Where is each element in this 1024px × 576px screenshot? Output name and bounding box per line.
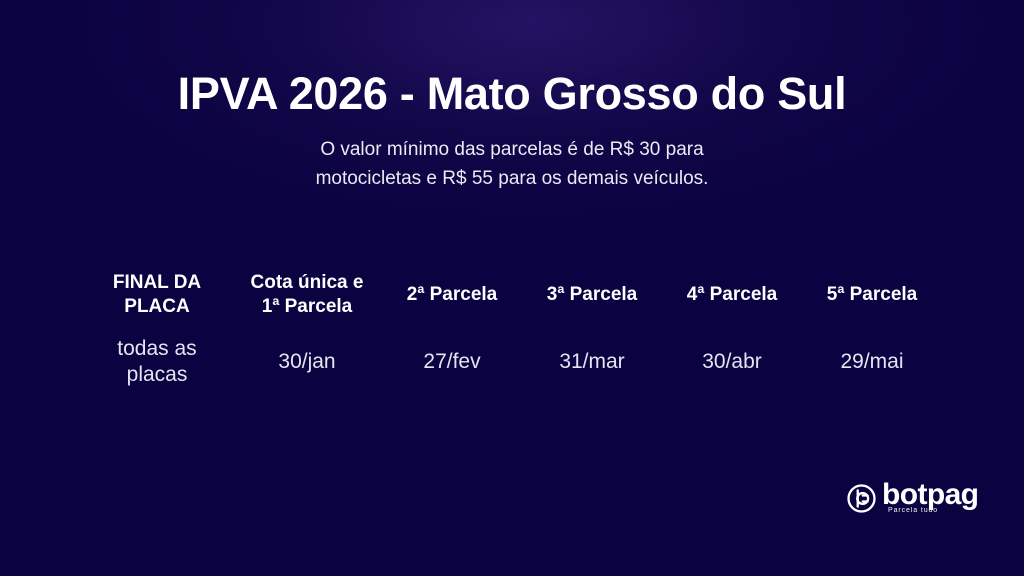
column-header-line-1: FINAL DA (82, 271, 232, 295)
cell-line-2: placas (82, 362, 232, 388)
page-title: IPVA 2026 - Mato Grosso do Sul (0, 69, 1024, 119)
column-header-parcela-5: 5ª Parcela (802, 264, 942, 326)
slide-content: IPVA 2026 - Mato Grosso do Sul O valor m… (0, 0, 1024, 576)
cell-cota-unica: 30/jan (232, 326, 382, 398)
cell-parcela-3: 31/mar (522, 326, 662, 398)
cell-line-1: todas as (82, 336, 232, 362)
column-header-parcela-4: 4ª Parcela (662, 264, 802, 326)
column-header-line-2: PLACA (82, 295, 232, 319)
botpag-wordmark: botpag (882, 480, 978, 510)
payment-schedule-table: FINAL DA PLACA Cota única e 1ª Parcela 2… (82, 264, 942, 398)
column-header-parcela-2: 2ª Parcela (382, 264, 522, 326)
column-header-line-2: 1ª Parcela (232, 295, 382, 319)
subtitle-line-1: O valor mínimo das parcelas é de R$ 30 p… (0, 136, 1024, 165)
column-header-line-1: Cota única e (232, 271, 382, 295)
column-header-parcela-3: 3ª Parcela (522, 264, 662, 326)
table-header: FINAL DA PLACA Cota única e 1ª Parcela 2… (82, 264, 942, 326)
cell-parcela-2: 27/fev (382, 326, 522, 398)
table-header-row: FINAL DA PLACA Cota única e 1ª Parcela 2… (82, 264, 942, 326)
cell-parcela-5: 29/mai (802, 326, 942, 398)
cell-final-da-placa: todas as placas (82, 326, 232, 398)
cell-parcela-4: 30/abr (662, 326, 802, 398)
table-row: todas as placas 30/jan 27/fev 31/mar 30/… (82, 326, 942, 398)
table-body: todas as placas 30/jan 27/fev 31/mar 30/… (82, 326, 942, 398)
subtitle-line-2: motocicletas e R$ 55 para os demais veíc… (0, 165, 1024, 194)
column-header-cota-unica: Cota única e 1ª Parcela (232, 264, 382, 326)
botpag-logo: botpag Parcela tudo (846, 480, 976, 524)
column-header-final-da-placa: FINAL DA PLACA (82, 264, 232, 326)
page-subtitle: O valor mínimo das parcelas é de R$ 30 p… (0, 136, 1024, 194)
botpag-tagline: Parcela tudo (888, 507, 938, 514)
botpag-circle-monogram-icon (846, 483, 877, 519)
slide-canvas: IPVA 2026 - Mato Grosso do Sul O valor m… (0, 0, 1024, 576)
